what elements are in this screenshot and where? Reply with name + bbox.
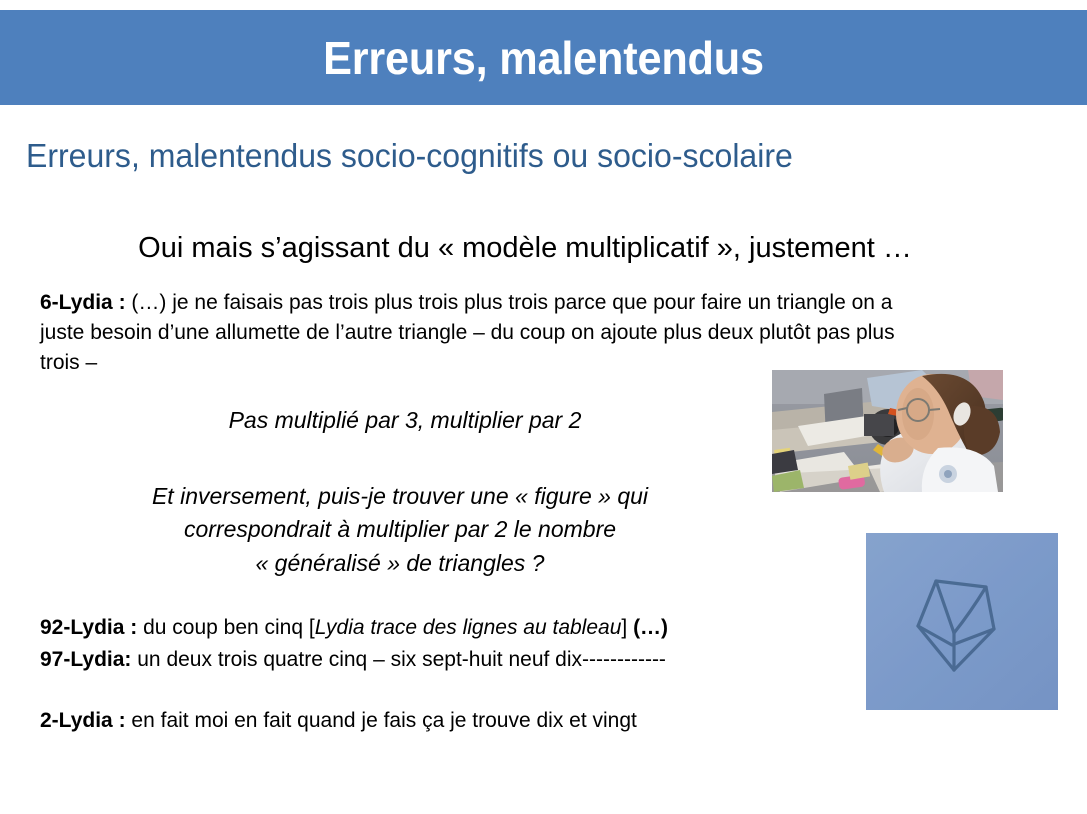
quote-2-speaker: 2-Lydia :: [40, 709, 126, 732]
lead-statement: Oui mais s’agissant du « modèle multipli…: [0, 232, 1050, 265]
title-banner: Erreurs, malentendus: [0, 10, 1087, 105]
board-drawing-photo: [866, 533, 1058, 710]
slide-subtitle: Erreurs, malentendus socio-cognitifs ou …: [26, 138, 1025, 174]
commentary-line-2: Et inversement, puis-je trouver une « fi…: [40, 480, 760, 513]
quote-92-trailing-bold: (…): [633, 616, 668, 639]
quote-92-text-after: ]: [621, 616, 633, 639]
transcript-quote-92: 92-Lydia : du coup ben cinq [Lydia trace…: [40, 613, 840, 643]
transcript-quote-6: 6-Lydia : (…) je ne faisais pas trois pl…: [40, 288, 910, 378]
slide-canvas: Erreurs, malentendus Erreurs, malentendu…: [0, 0, 1087, 814]
commentary-line-4: « généralisé » de triangles ?: [40, 547, 760, 580]
quote-6-speaker: 6-Lydia :: [40, 291, 126, 314]
quote-97-text: un deux trois quatre cinq – six sept-hui…: [131, 648, 666, 671]
page-title: Erreurs, malentendus: [323, 35, 764, 81]
commentary-block-a: Pas multiplié par 3, multiplier par 2: [40, 404, 770, 437]
quote-92-stage-direction: Lydia trace des lignes au tableau: [315, 616, 622, 639]
commentary-line-1: Pas multiplié par 3, multiplier par 2: [40, 404, 770, 437]
classroom-photo: [772, 370, 1003, 492]
quote-92-speaker: 92-Lydia :: [40, 616, 137, 639]
transcript-quote-2: 2-Lydia : en fait moi en fait quand je f…: [40, 706, 840, 736]
quote-6-text: (…) je ne faisais pas trois plus trois p…: [40, 291, 895, 374]
transcript-quote-97: 97-Lydia: un deux trois quatre cinq – si…: [40, 645, 860, 675]
commentary-block-b: Et inversement, puis-je trouver une « fi…: [40, 480, 760, 580]
commentary-line-3: correspondrait à multiplier par 2 le nom…: [40, 513, 760, 546]
quote-97-speaker: 97-Lydia:: [40, 648, 131, 671]
quote-92-text-before: du coup ben cinq [: [137, 616, 314, 639]
quote-2-text: en fait moi en fait quand je fais ça je …: [126, 709, 637, 732]
